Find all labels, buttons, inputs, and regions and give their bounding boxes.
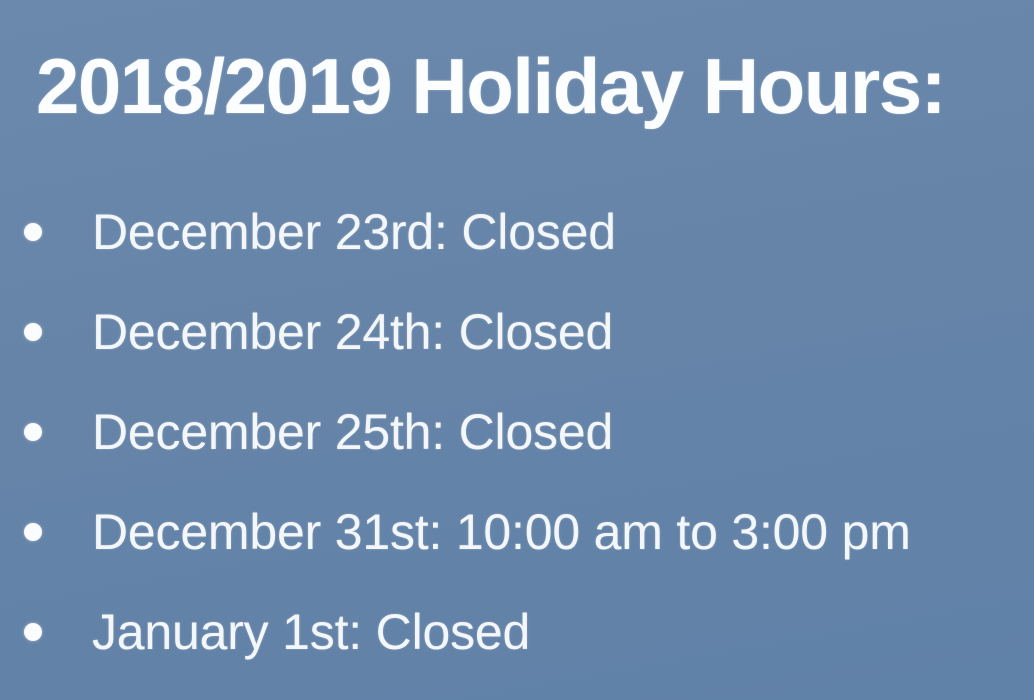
- list-item-label: January 1st: Closed: [92, 603, 530, 661]
- bullet-icon: [24, 623, 42, 641]
- list-item: December 24th: Closed: [0, 282, 1034, 382]
- bullet-icon: [24, 523, 42, 541]
- list-item-label: December 23rd: Closed: [92, 203, 616, 261]
- list-item-label: December 24th: Closed: [92, 303, 613, 361]
- list-item: December 25th: Closed: [0, 382, 1034, 482]
- bullet-icon: [24, 223, 42, 241]
- page-title: 2018/2019 Holiday Hours:: [36, 44, 1016, 128]
- bullet-icon: [24, 423, 42, 441]
- list-item-label: December 31st: 10:00 am to 3:00 pm: [92, 503, 911, 561]
- list-item-label: December 25th: Closed: [92, 403, 613, 461]
- bullet-icon: [24, 323, 42, 341]
- holiday-hours-notice: 2018/2019 Holiday Hours: December 23rd: …: [0, 0, 1034, 700]
- list-item: January 1st: Closed: [0, 582, 1034, 682]
- list-item: December 31st: 10:00 am to 3:00 pm: [0, 482, 1034, 582]
- holiday-hours-list: December 23rd: Closed December 24th: Clo…: [0, 182, 1034, 682]
- list-item: December 23rd: Closed: [0, 182, 1034, 282]
